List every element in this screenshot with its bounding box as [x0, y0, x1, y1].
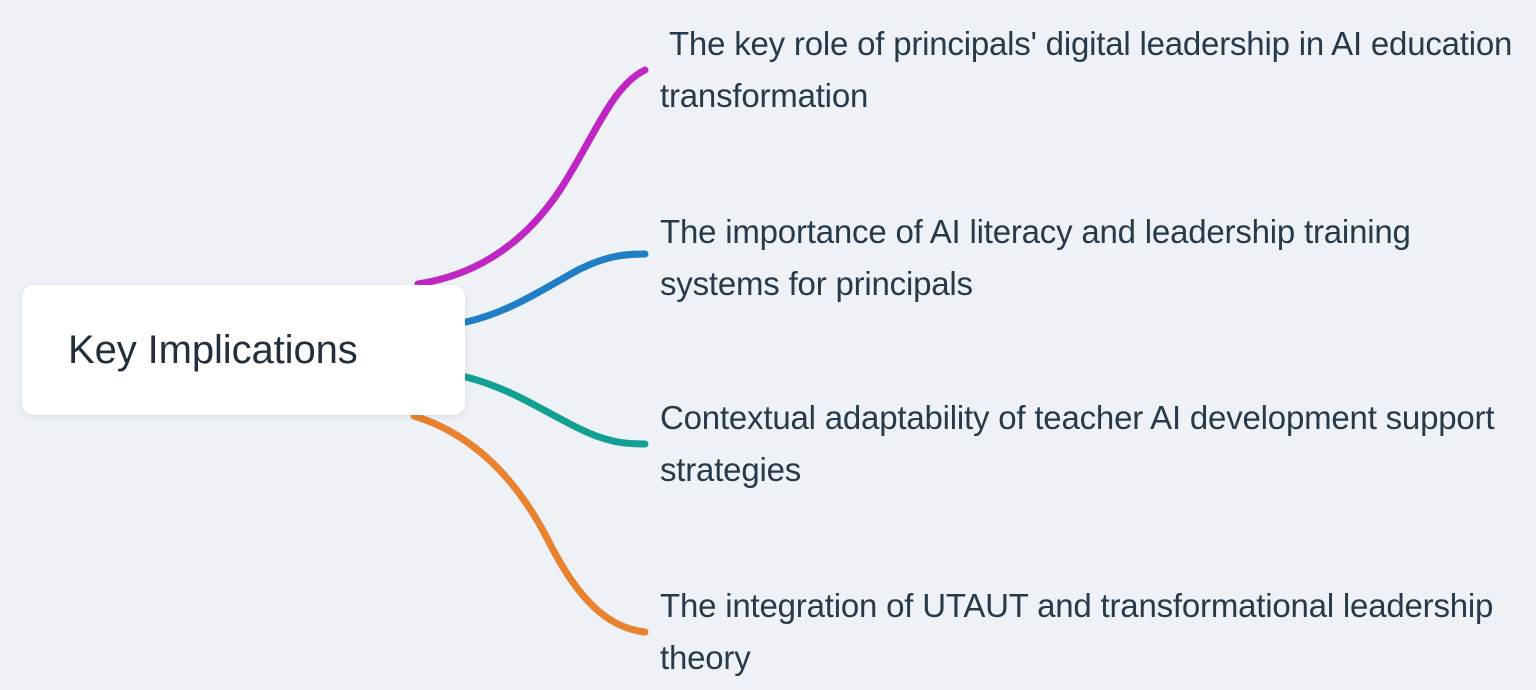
branch-label-contextual-adaptability[interactable]: Contextual adaptability of teacher AI de… [660, 392, 1530, 496]
root-node[interactable]: Key Implications [22, 285, 465, 415]
branch-label-ai-literacy[interactable]: The importance of AI literacy and leader… [660, 206, 1450, 310]
mindmap-canvas: Key Implications The key role of princip… [0, 0, 1536, 690]
root-node-label: Key Implications [68, 328, 358, 372]
branch-label-utaut-integration[interactable]: The integration of UTAUT and transformat… [660, 580, 1500, 684]
branch-connector-0 [418, 70, 645, 284]
branch-connector-1 [466, 254, 645, 322]
branch-connector-2 [466, 377, 645, 444]
branch-connector-3 [414, 416, 645, 632]
branch-label-key-role[interactable]: The key role of principals' digital lead… [660, 18, 1516, 122]
